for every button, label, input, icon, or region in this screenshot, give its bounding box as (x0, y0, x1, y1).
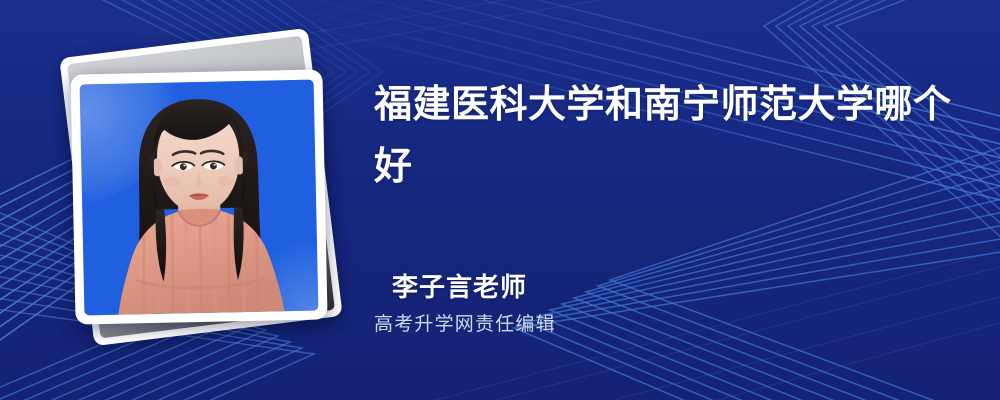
portrait-illustration (80, 80, 319, 316)
photo-card-front (70, 69, 327, 324)
author-role: 高考升学网责任编辑 (374, 313, 556, 337)
banner-content: 福建医科大学和南宁师范大学哪个好 李子言老师 高考升学网责任编辑 (374, 0, 974, 400)
author-name: 李子言老师 (392, 272, 556, 305)
article-hero-banner: 福建医科大学和南宁师范大学哪个好 李子言老师 高考升学网责任编辑 (0, 0, 1000, 400)
page-title: 福建医科大学和南宁师范大学哪个好 (374, 74, 954, 197)
byline: 李子言老师 高考升学网责任编辑 (392, 272, 556, 336)
author-photo-stack (60, 40, 360, 360)
avatar (80, 80, 319, 316)
